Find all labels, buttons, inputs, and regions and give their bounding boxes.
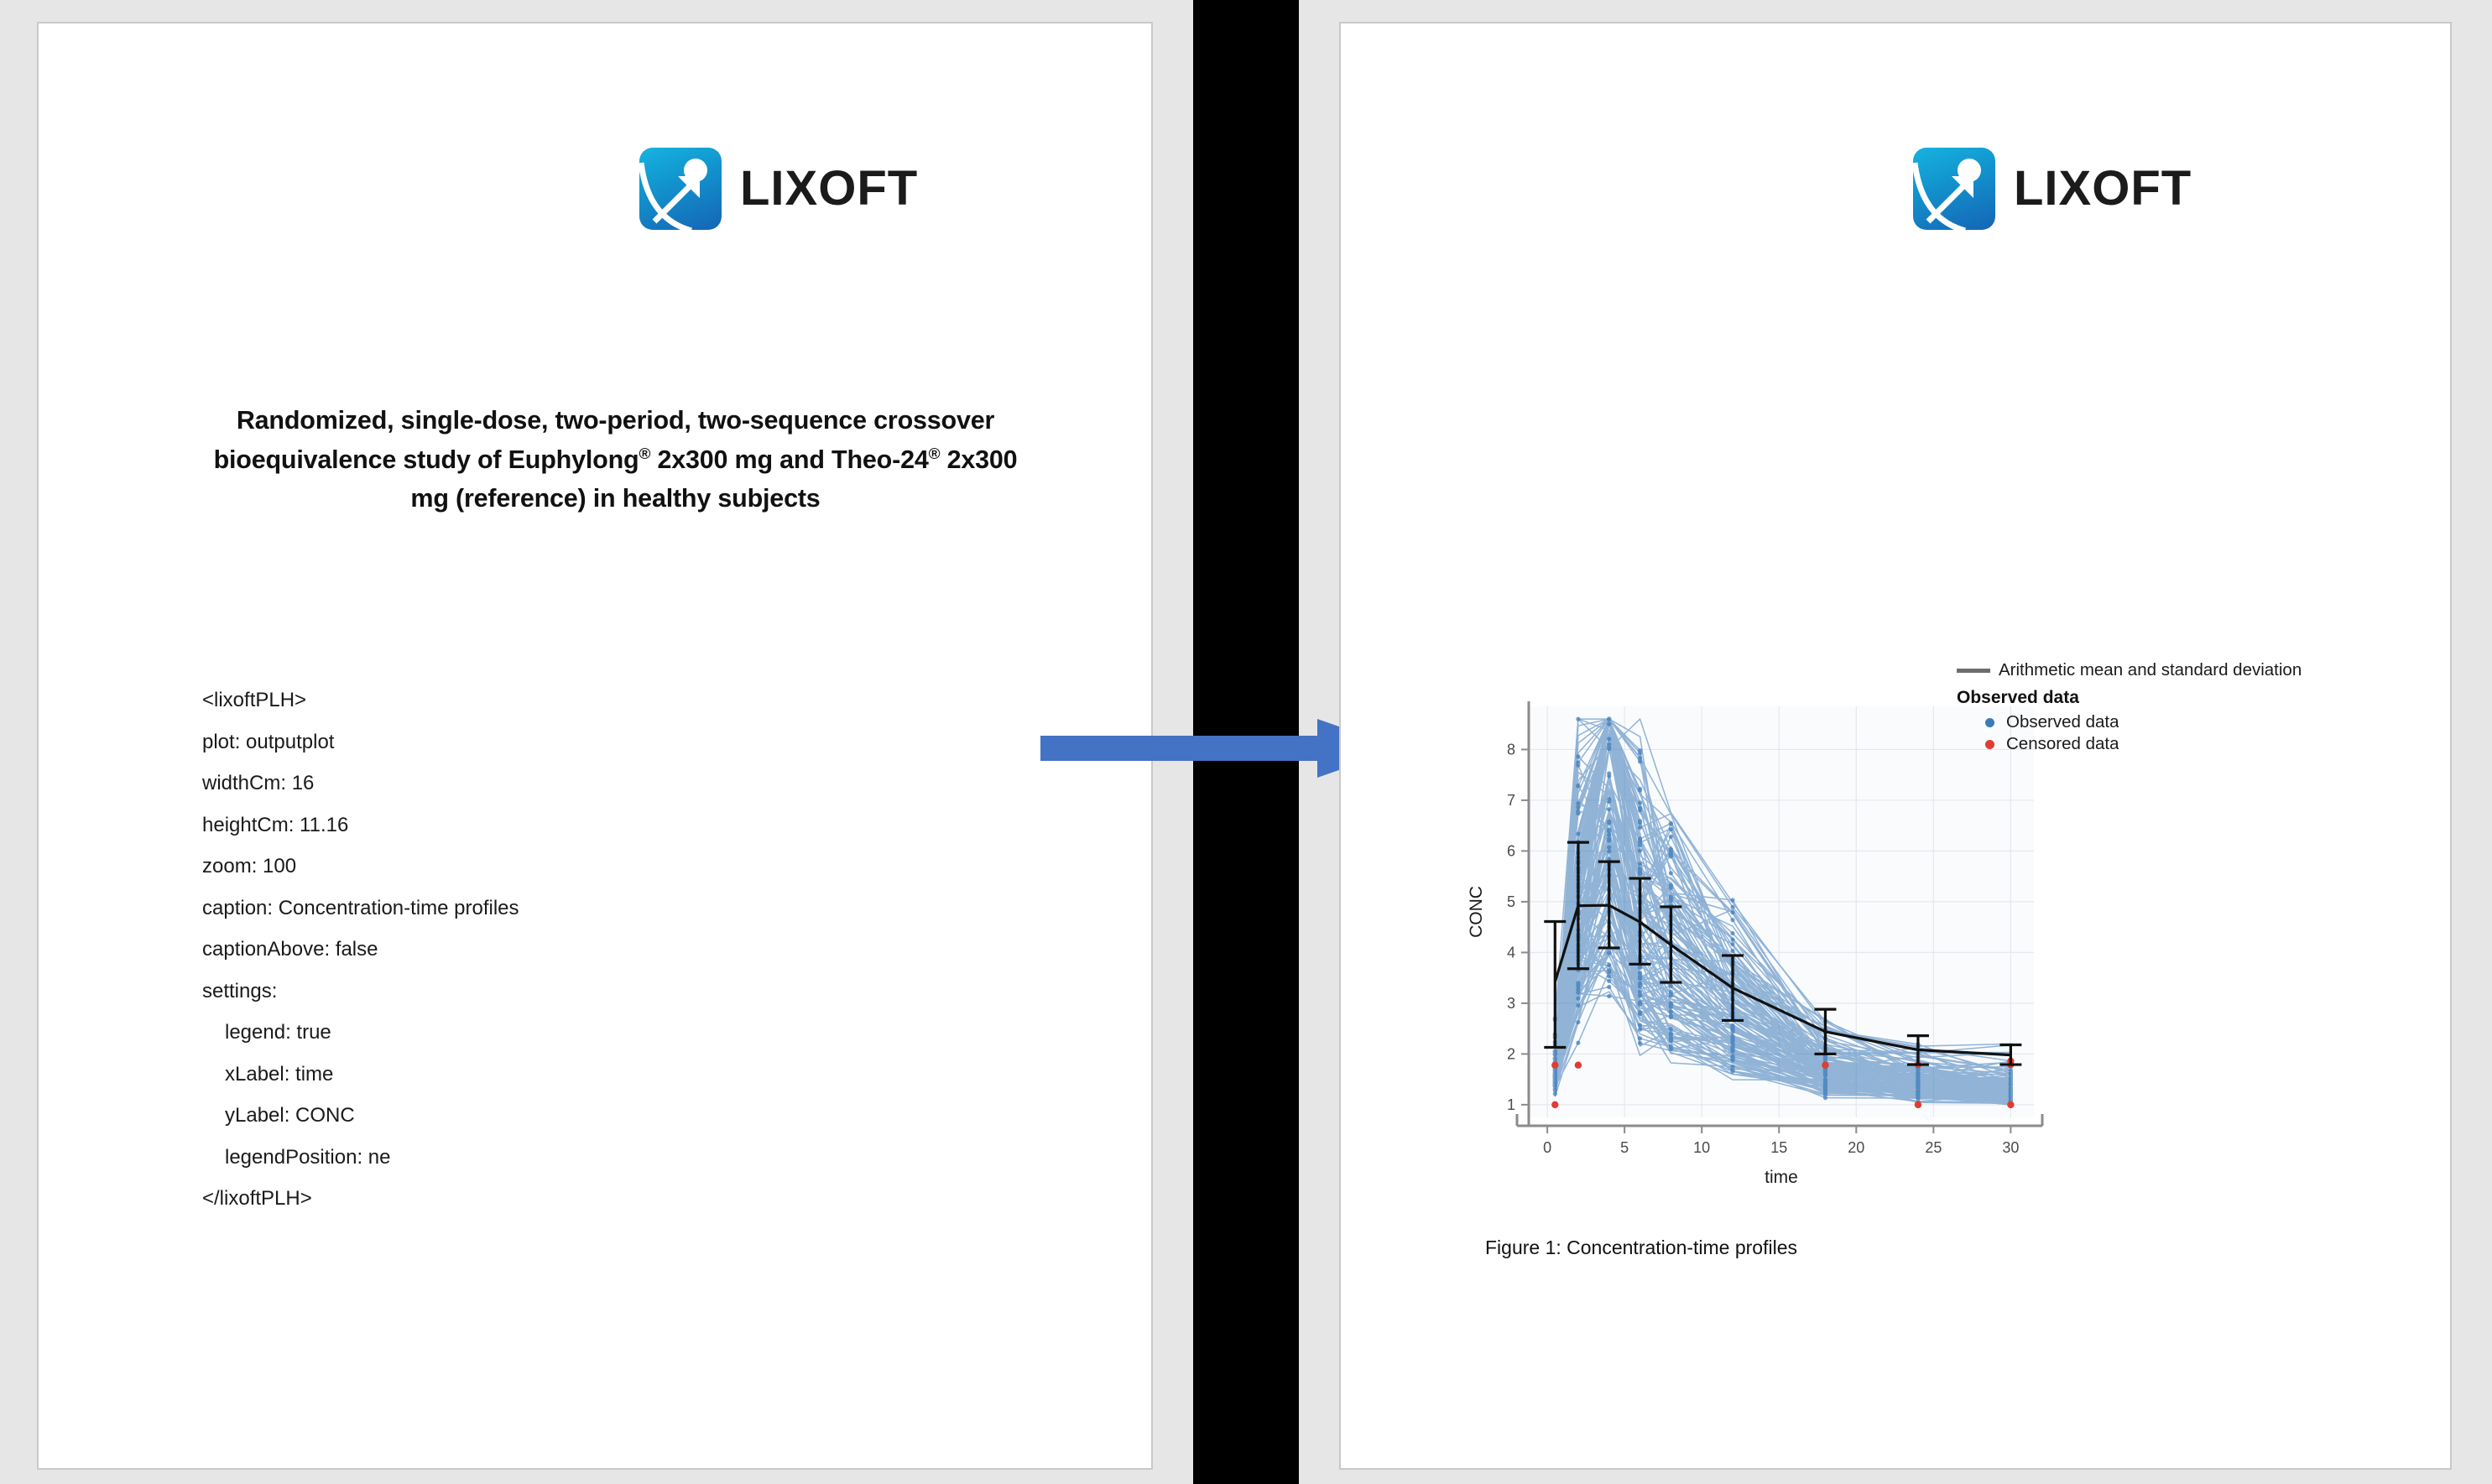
legend-row-censored: Censored data bbox=[1985, 733, 2319, 755]
study-title-line-2c: 2x300 bbox=[940, 445, 1017, 474]
svg-text:5: 5 bbox=[1620, 1139, 1629, 1156]
svg-text:1: 1 bbox=[1507, 1096, 1515, 1113]
svg-text:4: 4 bbox=[1507, 944, 1515, 961]
lixoft-logo: LIXOFT bbox=[1913, 148, 2192, 230]
placeholder-line: yLabel: CONC bbox=[202, 1106, 790, 1148]
legend-dot-censored-icon bbox=[1985, 740, 1994, 749]
placeholder-line: zoom: 100 bbox=[202, 857, 790, 898]
svg-text:2: 2 bbox=[1507, 1045, 1515, 1062]
svg-text:30: 30 bbox=[2002, 1139, 2019, 1156]
study-title-line-2b: 2x300 mg and Theo-24 bbox=[650, 445, 928, 474]
logo-arrow-swoosh-icon bbox=[1913, 148, 1995, 230]
registered-mark-2: ® bbox=[929, 445, 941, 463]
figure-container: 12345678051015202530timeCONC Arithmetic … bbox=[1463, 658, 2319, 1245]
legend-row-mean: Arithmetic mean and standard deviation bbox=[1957, 658, 2319, 683]
svg-text:20: 20 bbox=[1848, 1139, 1864, 1156]
placeholder-line: plot: outputplot bbox=[202, 732, 790, 774]
placeholder-line: <lixoftPLH> bbox=[202, 690, 790, 732]
study-title: Randomized, single-dose, two-period, two… bbox=[194, 401, 1037, 518]
svg-text:8: 8 bbox=[1507, 741, 1515, 758]
svg-text:0: 0 bbox=[1543, 1139, 1551, 1156]
svg-text:5: 5 bbox=[1507, 893, 1515, 910]
study-title-line-2a: bioequivalence study of Euphylong bbox=[214, 445, 639, 474]
svg-text:25: 25 bbox=[1925, 1139, 1942, 1156]
placeholder-line: captionAbove: false bbox=[202, 940, 790, 982]
logo-arrow-swoosh-icon bbox=[639, 148, 722, 230]
legend-label-censored: Censored data bbox=[2006, 734, 2119, 754]
placeholder-line: heightCm: 11.16 bbox=[202, 815, 790, 857]
legend-label-observed: Observed data bbox=[2006, 712, 2119, 732]
placeholder-line: settings: bbox=[202, 982, 790, 1023]
lixoft-logo: LIXOFT bbox=[639, 148, 918, 230]
placeholder-line: legendPosition: ne bbox=[202, 1148, 790, 1190]
svg-text:15: 15 bbox=[1770, 1139, 1787, 1156]
placeholder-line: caption: Concentration-time profiles bbox=[202, 898, 790, 940]
legend-group-title: Observed data bbox=[1957, 688, 2319, 708]
lixoft-logo-mark-icon bbox=[639, 148, 722, 230]
placeholder-line: widthCm: 16 bbox=[202, 773, 790, 815]
legend-observed-group: Observed data Censored data bbox=[1957, 711, 2319, 755]
svg-text:3: 3 bbox=[1507, 995, 1515, 1012]
legend-line-swatch-icon bbox=[1957, 669, 1990, 673]
document-page-source[interactable]: LIXOFT Randomized, single-dose, two-peri… bbox=[37, 22, 1153, 1470]
placeholder-line: legend: true bbox=[202, 1023, 790, 1065]
placeholder-line: </lixoftPLH> bbox=[202, 1189, 790, 1231]
svg-text:10: 10 bbox=[1693, 1139, 1710, 1156]
legend-row-observed: Observed data bbox=[1985, 711, 2319, 733]
screenshot-stage: LIXOFT Randomized, single-dose, two-peri… bbox=[0, 0, 2492, 1484]
lixoft-wordmark: LIXOFT bbox=[740, 164, 918, 213]
lixoft-wordmark: LIXOFT bbox=[2014, 164, 2192, 213]
legend-dot-observed-icon bbox=[1985, 718, 1994, 727]
svg-text:7: 7 bbox=[1507, 792, 1515, 809]
placeholder-line: xLabel: time bbox=[202, 1065, 790, 1106]
study-title-line-3: mg (reference) in healthy subjects bbox=[410, 484, 820, 513]
lixoft-placeholder-block[interactable]: <lixoftPLH> plot: outputplot widthCm: 16… bbox=[202, 690, 790, 1231]
svg-text:CONC: CONC bbox=[1467, 886, 1486, 938]
registered-mark-1: ® bbox=[639, 445, 650, 463]
study-title-line-1: Randomized, single-dose, two-period, two… bbox=[237, 406, 994, 435]
legend-label-mean: Arithmetic mean and standard deviation bbox=[1999, 660, 2302, 680]
svg-text:6: 6 bbox=[1507, 842, 1515, 859]
lixoft-logo-mark-icon bbox=[1913, 148, 1995, 230]
chart-legend: Arithmetic mean and standard deviation O… bbox=[1957, 658, 2319, 755]
svg-text:time: time bbox=[1765, 1168, 1798, 1187]
figure-caption: Figure 1: Concentration-time profiles bbox=[1485, 1237, 1797, 1259]
